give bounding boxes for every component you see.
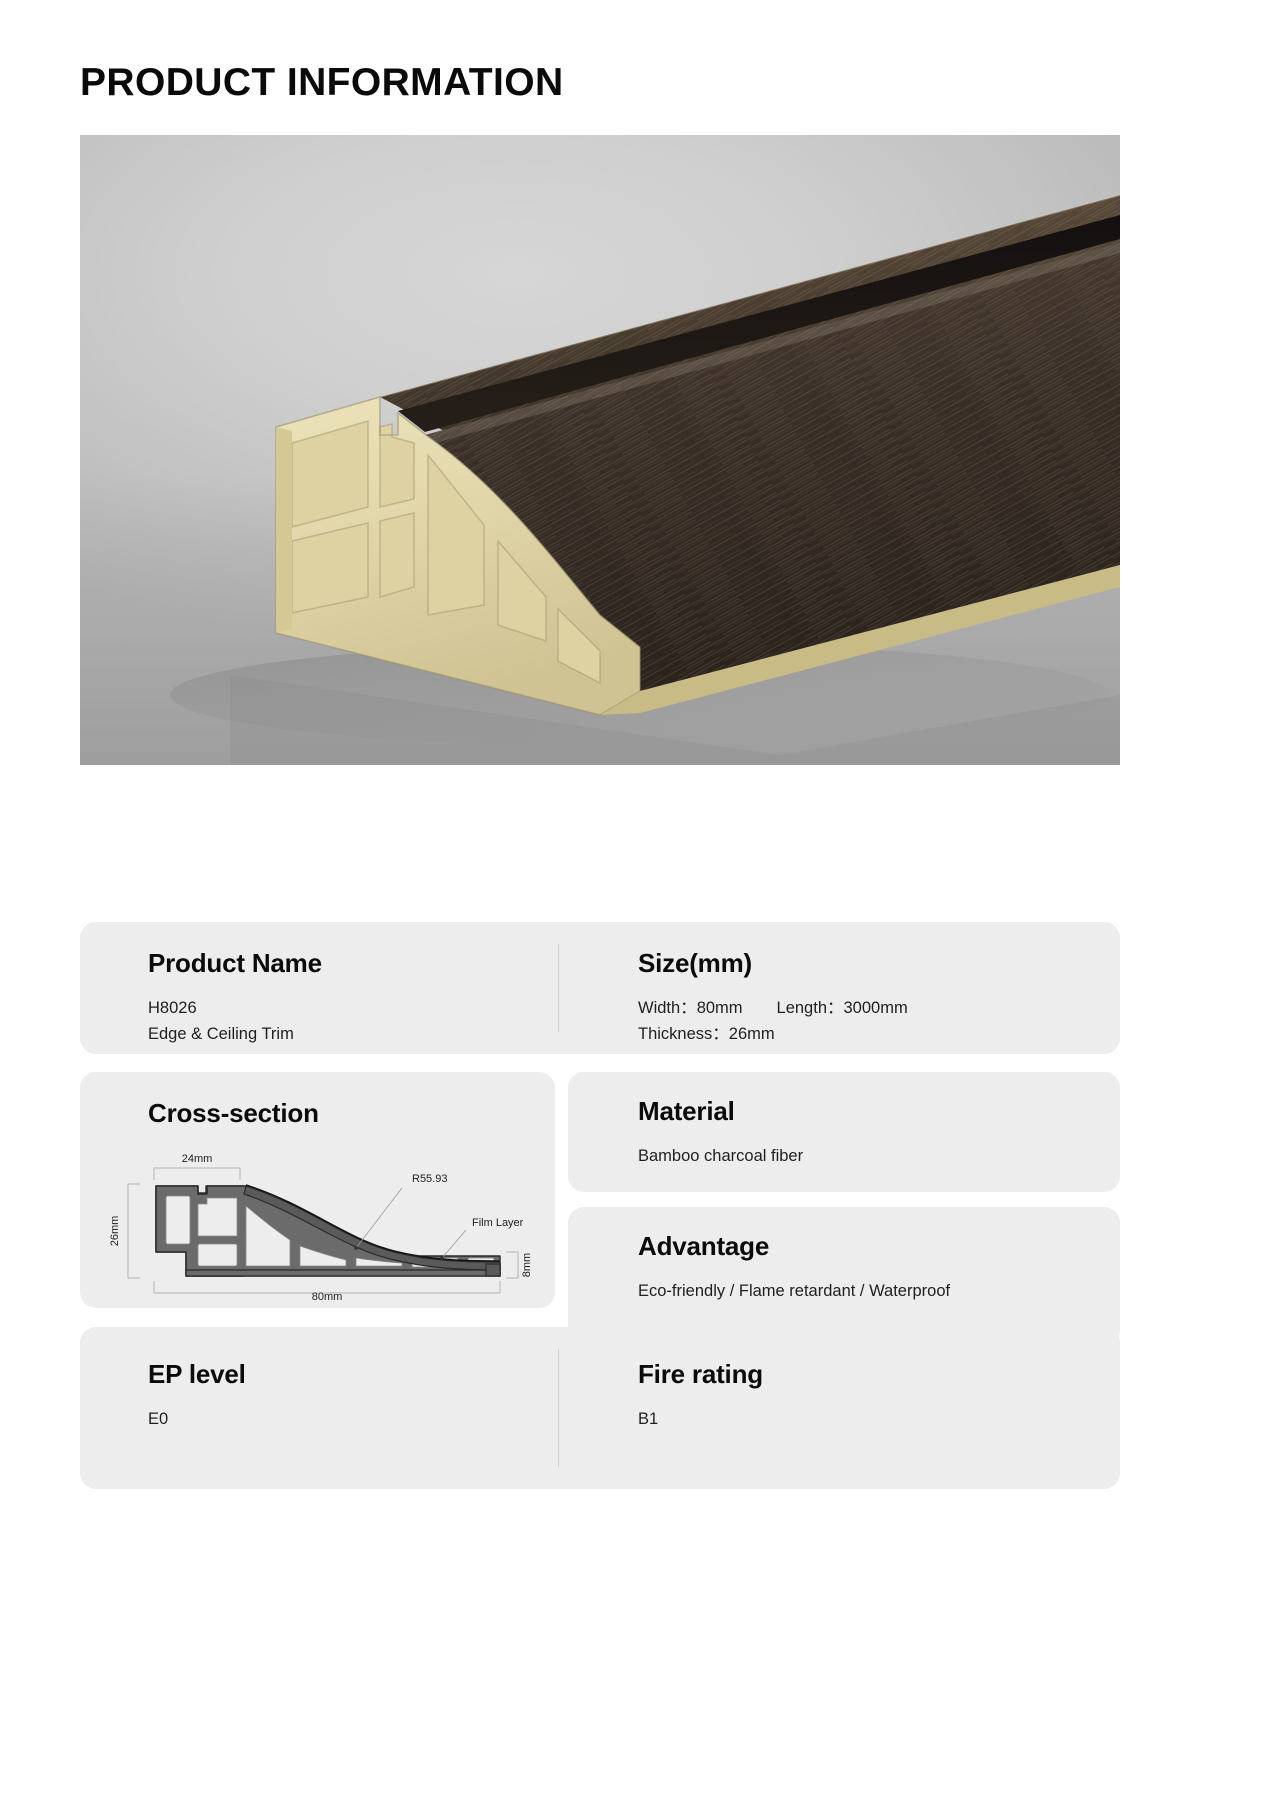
material-inner: Material Bamboo charcoal fiber — [638, 1096, 803, 1170]
card-cross-section: Cross-section .dimline { stroke:#b4b4b4;… — [80, 1072, 555, 1308]
dim-right-label: 8mm — [521, 1253, 533, 1277]
size-width-label: Width： — [638, 999, 697, 1017]
dim-left-label: 26mm — [109, 1216, 121, 1247]
product-description: Edge & Ceiling Trim — [148, 1022, 322, 1048]
advantage-inner: Advantage Eco-friendly / Flame retardant… — [638, 1231, 950, 1305]
cross-section-drawing: .dimline { stroke:#b4b4b4; stroke-width:… — [94, 1148, 544, 1300]
ep-level-value: E0 — [148, 1407, 246, 1433]
size-thickness-label: Thickness： — [638, 1025, 729, 1043]
ep-level-column: EP level E0 — [148, 1359, 246, 1433]
cross-section-title: Cross-section — [148, 1098, 319, 1129]
product-name-body: H8026 Edge & Ceiling Trim — [148, 996, 322, 1047]
size-thickness-value: 26mm — [729, 1025, 775, 1043]
card-divider — [558, 1349, 559, 1467]
dim-bottom-label: 80mm — [312, 1291, 343, 1300]
product-name-column: Product Name H8026 Edge & Ceiling Trim — [148, 948, 322, 1047]
fire-rating-title: Fire rating — [638, 1359, 763, 1390]
radius-label: R55.93 — [412, 1173, 447, 1185]
cross-section-svg: .dimline { stroke:#b4b4b4; stroke-width:… — [94, 1148, 544, 1300]
size-length-value: 3000mm — [844, 999, 908, 1017]
size-width-value: 80mm — [697, 999, 743, 1017]
product-information-page: PRODUCT INFORMATION — [0, 0, 1280, 1810]
page-title: PRODUCT INFORMATION — [80, 62, 564, 105]
size-title: Size(mm) — [638, 948, 908, 979]
film-layer-label: Film Layer — [472, 1217, 524, 1229]
dim-top-label: 24mm — [182, 1153, 213, 1165]
advantage-value: Eco-friendly / Flame retardant / Waterpr… — [638, 1279, 950, 1305]
advantage-title: Advantage — [638, 1231, 950, 1262]
card-material: Material Bamboo charcoal fiber — [568, 1072, 1120, 1192]
fire-rating-column: Fire rating B1 — [638, 1359, 763, 1433]
fire-rating-value: B1 — [638, 1407, 763, 1433]
size-values: Width：80mmLength：3000mm Thickness：26mm — [638, 996, 908, 1047]
card-ep-fire: EP level E0 Fire rating B1 — [80, 1327, 1120, 1489]
product-code: H8026 — [148, 996, 322, 1022]
product-name-title: Product Name — [148, 948, 322, 979]
ep-level-title: EP level — [148, 1359, 246, 1390]
material-title: Material — [638, 1096, 803, 1127]
card-divider — [558, 944, 559, 1032]
size-length-label: Length： — [777, 999, 844, 1017]
hero-profile-illustration — [80, 135, 1120, 765]
card-product-name-size: Product Name H8026 Edge & Ceiling Trim S… — [80, 922, 1120, 1054]
profile-body — [156, 1185, 500, 1276]
size-column: Size(mm) Width：80mmLength：3000mm Thickne… — [638, 948, 908, 1047]
size-row-thickness: Thickness：26mm — [638, 1022, 908, 1048]
material-value: Bamboo charcoal fiber — [638, 1144, 803, 1170]
product-hero-image — [80, 135, 1120, 765]
card-advantage: Advantage Eco-friendly / Flame retardant… — [568, 1207, 1120, 1347]
size-row-width-length: Width：80mmLength：3000mm — [638, 996, 908, 1022]
